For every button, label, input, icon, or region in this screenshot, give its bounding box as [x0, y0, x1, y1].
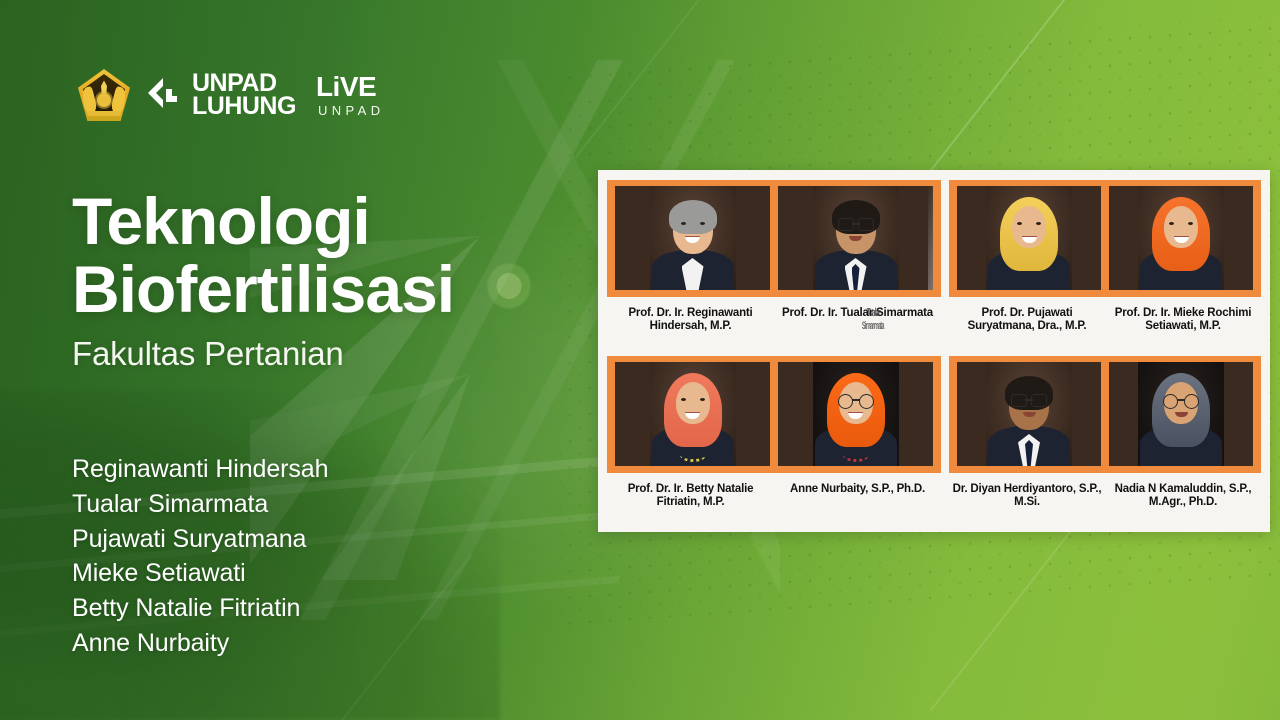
wordmark-line-2: LUHUNG: [192, 95, 296, 119]
slide-stage: UNPAD LUHUNG LiVE UNPAD Teknologi Biofer…: [0, 0, 1280, 720]
unpad-luhung-wordmark: UNPAD LUHUNG: [192, 72, 296, 119]
list-item: Tualar Simarmata: [72, 487, 542, 522]
photo-caption: Prof. Dr. Ir. Betty Natalie Fitriatin, M…: [607, 483, 774, 510]
speaker-portrait: [1109, 362, 1253, 466]
speaker-portrait: [778, 186, 933, 290]
page-title-line-1: Teknologi: [72, 188, 592, 256]
page-title-block: Teknologi Biofertilisasi Fakultas Pertan…: [72, 188, 592, 374]
list-item: Reginawanti Hindersah: [72, 452, 542, 487]
page-subtitle: Fakultas Pertanian: [72, 334, 592, 374]
live-label: LiVE: [316, 73, 385, 101]
photo-cell: [1109, 186, 1253, 290]
photo-panel-group: [949, 356, 1261, 473]
photo-row: Prof. Dr. Ir. Reginawanti Hindersah, M.P…: [607, 180, 1261, 350]
photo-caption: Dr. Diyan Herdiyantoro, S.P., M.Si.: [949, 483, 1105, 510]
photo-panel-group: [607, 180, 941, 297]
photo-caption: Prof. Dr. Ir. Tualar Simarmata Tualar Si…: [774, 307, 941, 334]
list-item: Anne Nurbaity: [72, 626, 542, 661]
speaker-portrait: [615, 362, 770, 466]
photo-cell: [615, 186, 770, 290]
speaker-portrait: [615, 186, 770, 290]
photo-cell: [778, 186, 933, 290]
speaker-portrait: [778, 362, 933, 466]
photo-panel-group: [949, 180, 1261, 297]
speaker-portrait: [957, 186, 1101, 290]
speaker-name-list: Reginawanti Hindersah Tualar Simarmata P…: [72, 452, 542, 661]
unpad-crest-icon: [78, 69, 130, 121]
photo-caption: Prof. Dr. Ir. Mieke Rochimi Setiawati, M…: [1105, 307, 1261, 334]
live-unpad-logo: LiVE UNPAD: [316, 73, 385, 117]
photo-cell: [957, 362, 1101, 466]
photo-caption: Prof. Dr. Pujawati Suryatmana, Dra., M.P…: [949, 307, 1105, 334]
photo-caption-text: Prof. Dr. Ir. Tualar Simarmata: [782, 307, 933, 319]
brand-logo-bar: UNPAD LUHUNG LiVE UNPAD: [78, 66, 384, 124]
photo-caption: Anne Nurbaity, S.P., Ph.D.: [774, 483, 941, 510]
photo-caption: Nadia N Kamaluddin, S.P., M.Agr., Ph.D.: [1105, 483, 1261, 510]
speaker-photo-card: Prof. Dr. Ir. Reginawanti Hindersah, M.P…: [598, 170, 1270, 532]
photo-cell: [957, 186, 1101, 290]
unpad-chevron-icon: [142, 75, 180, 115]
photo-row: Prof. Dr. Ir. Betty Natalie Fitriatin, M…: [607, 356, 1261, 526]
caption-overlap-artifact: Simarmata: [862, 320, 884, 333]
photo-cell: [778, 362, 933, 466]
list-item: Mieke Setiawati: [72, 556, 542, 591]
page-title-line-2: Biofertilisasi: [72, 256, 592, 324]
photo-cell: [1109, 362, 1253, 466]
photo-glare-artifact: [928, 186, 933, 290]
list-item: Pujawati Suryatmana: [72, 522, 542, 557]
photo-panel-group: [607, 356, 941, 473]
speaker-portrait: [957, 362, 1101, 466]
live-sub-label: UNPAD: [316, 104, 385, 117]
photo-caption: Prof. Dr. Ir. Reginawanti Hindersah, M.P…: [607, 307, 774, 334]
caption-overlap-artifact: Tualar: [866, 307, 880, 320]
speaker-portrait: [1109, 186, 1253, 290]
list-item: Betty Natalie Fitriatin: [72, 591, 542, 626]
photo-cell: [615, 362, 770, 466]
